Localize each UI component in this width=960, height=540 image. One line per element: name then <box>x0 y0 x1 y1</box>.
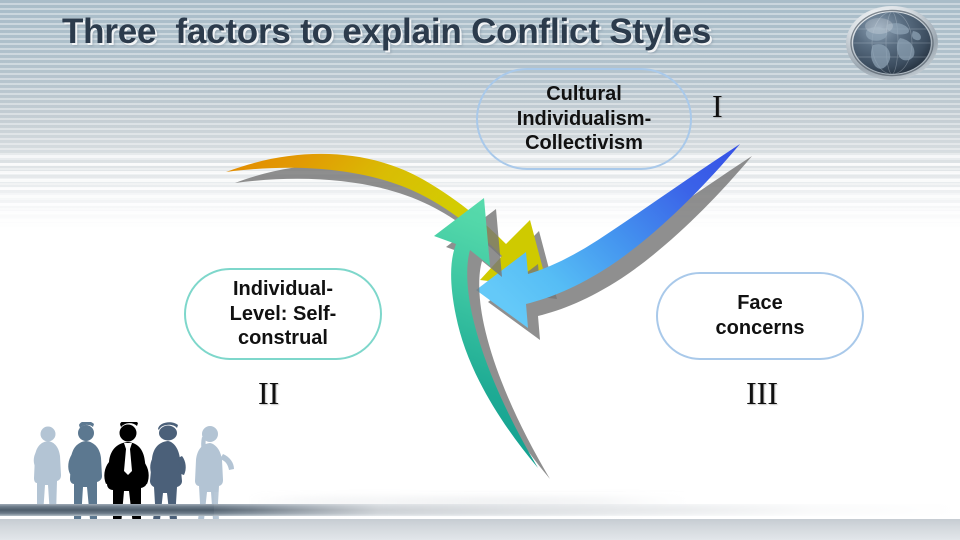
callout-face-line-2: concerns <box>716 316 805 341</box>
callout-cultural-line-3: Collectivism <box>517 131 651 156</box>
callout-individual-line-2: Level: Self- <box>230 302 337 327</box>
callout-individual-line-1: Individual- <box>230 277 337 302</box>
callout-face-concerns[interactable]: Face concerns <box>656 272 864 360</box>
numeral-one: I <box>712 88 723 125</box>
numeral-two: II <box>258 375 279 412</box>
callout-cultural[interactable]: Cultural Individualism- Collectivism <box>476 68 692 170</box>
floor-strip <box>0 519 960 540</box>
callout-cultural-line-2: Individualism- <box>517 107 651 132</box>
callout-cultural-line-1: Cultural <box>517 82 651 107</box>
callout-individual-level[interactable]: Individual- Level: Self- construal <box>184 268 382 360</box>
silhouette-person-1 <box>34 427 61 516</box>
callout-individual-line-3: construal <box>230 326 337 351</box>
callout-face-line-1: Face <box>716 291 805 316</box>
slide-canvas: Three factors to explain Conflict Styles <box>0 0 960 540</box>
numeral-three: III <box>746 375 778 412</box>
